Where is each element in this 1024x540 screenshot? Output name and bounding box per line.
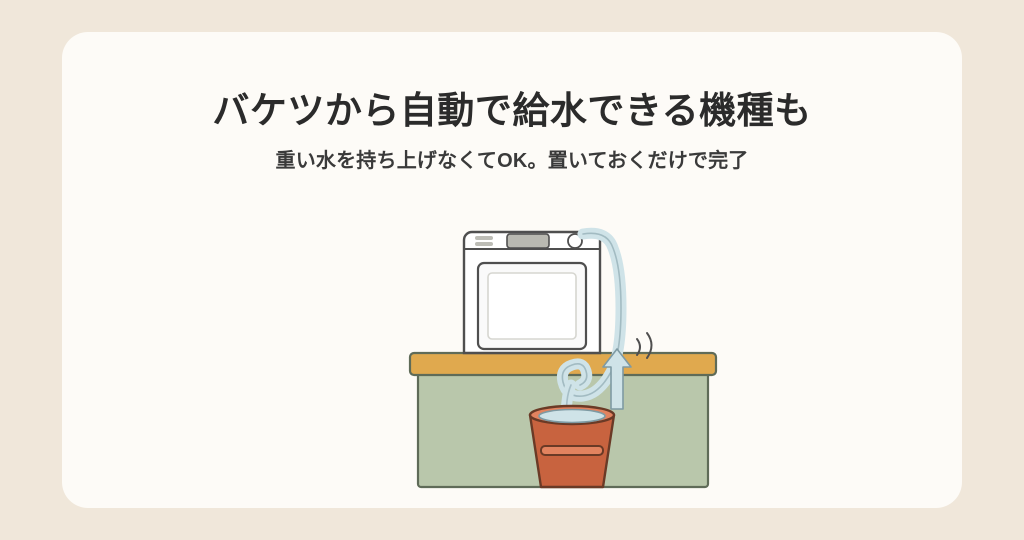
dishwasher-auto-water-supply-illustration	[292, 187, 732, 497]
content-card: バケツから自動で給水できる機種も 重い水を持ち上げなくてOK。置いておくだけで完…	[62, 32, 962, 508]
bucket-water-icon	[539, 410, 605, 423]
page-subtitle: 重い水を持ち上げなくてOK。置いておくだけで完了	[62, 144, 962, 173]
bucket-icon	[530, 406, 614, 487]
dishwasher-icon	[464, 232, 600, 353]
slide-root: バケツから自動で給水できる機種も 重い水を持ち上げなくてOK。置いておくだけで完…	[0, 0, 1024, 540]
page-title: バケツから自動で給水できる機種も	[62, 80, 962, 134]
dishwasher-control-panel-icon	[507, 234, 549, 248]
